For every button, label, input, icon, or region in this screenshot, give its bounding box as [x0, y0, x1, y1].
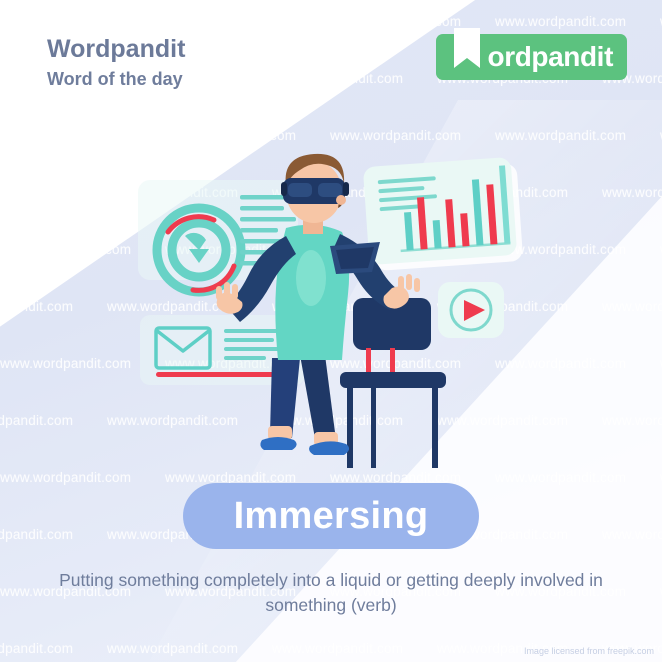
radar-target-graphic	[157, 208, 241, 292]
word-definition: Putting something completely into a liqu…	[40, 568, 622, 619]
envelope-underline	[156, 372, 287, 377]
shoe-front	[260, 437, 296, 450]
tablet-device	[330, 242, 380, 274]
leg-back	[300, 355, 336, 444]
brand-title: Wordpandit	[47, 36, 185, 64]
bar-chart-panel	[363, 157, 523, 271]
logo-text: ordpandit	[488, 43, 614, 71]
image-credit: Image licensed from freepik.com	[524, 646, 654, 656]
chair	[340, 298, 446, 468]
word-term: Immersing	[234, 497, 429, 535]
bookmark-icon	[454, 28, 480, 72]
header: Wordpandit Word of the day	[47, 36, 185, 89]
word-of-the-day-card: www.wordpandit.comwww.wordpandit.comwww.…	[0, 0, 662, 662]
word-pill: Immersing	[183, 483, 479, 549]
play-button-panel	[438, 282, 504, 338]
header-subtitle: Word of the day	[47, 70, 185, 90]
wordpandit-logo[interactable]: ordpandit	[436, 34, 628, 80]
illustration	[0, 120, 662, 480]
